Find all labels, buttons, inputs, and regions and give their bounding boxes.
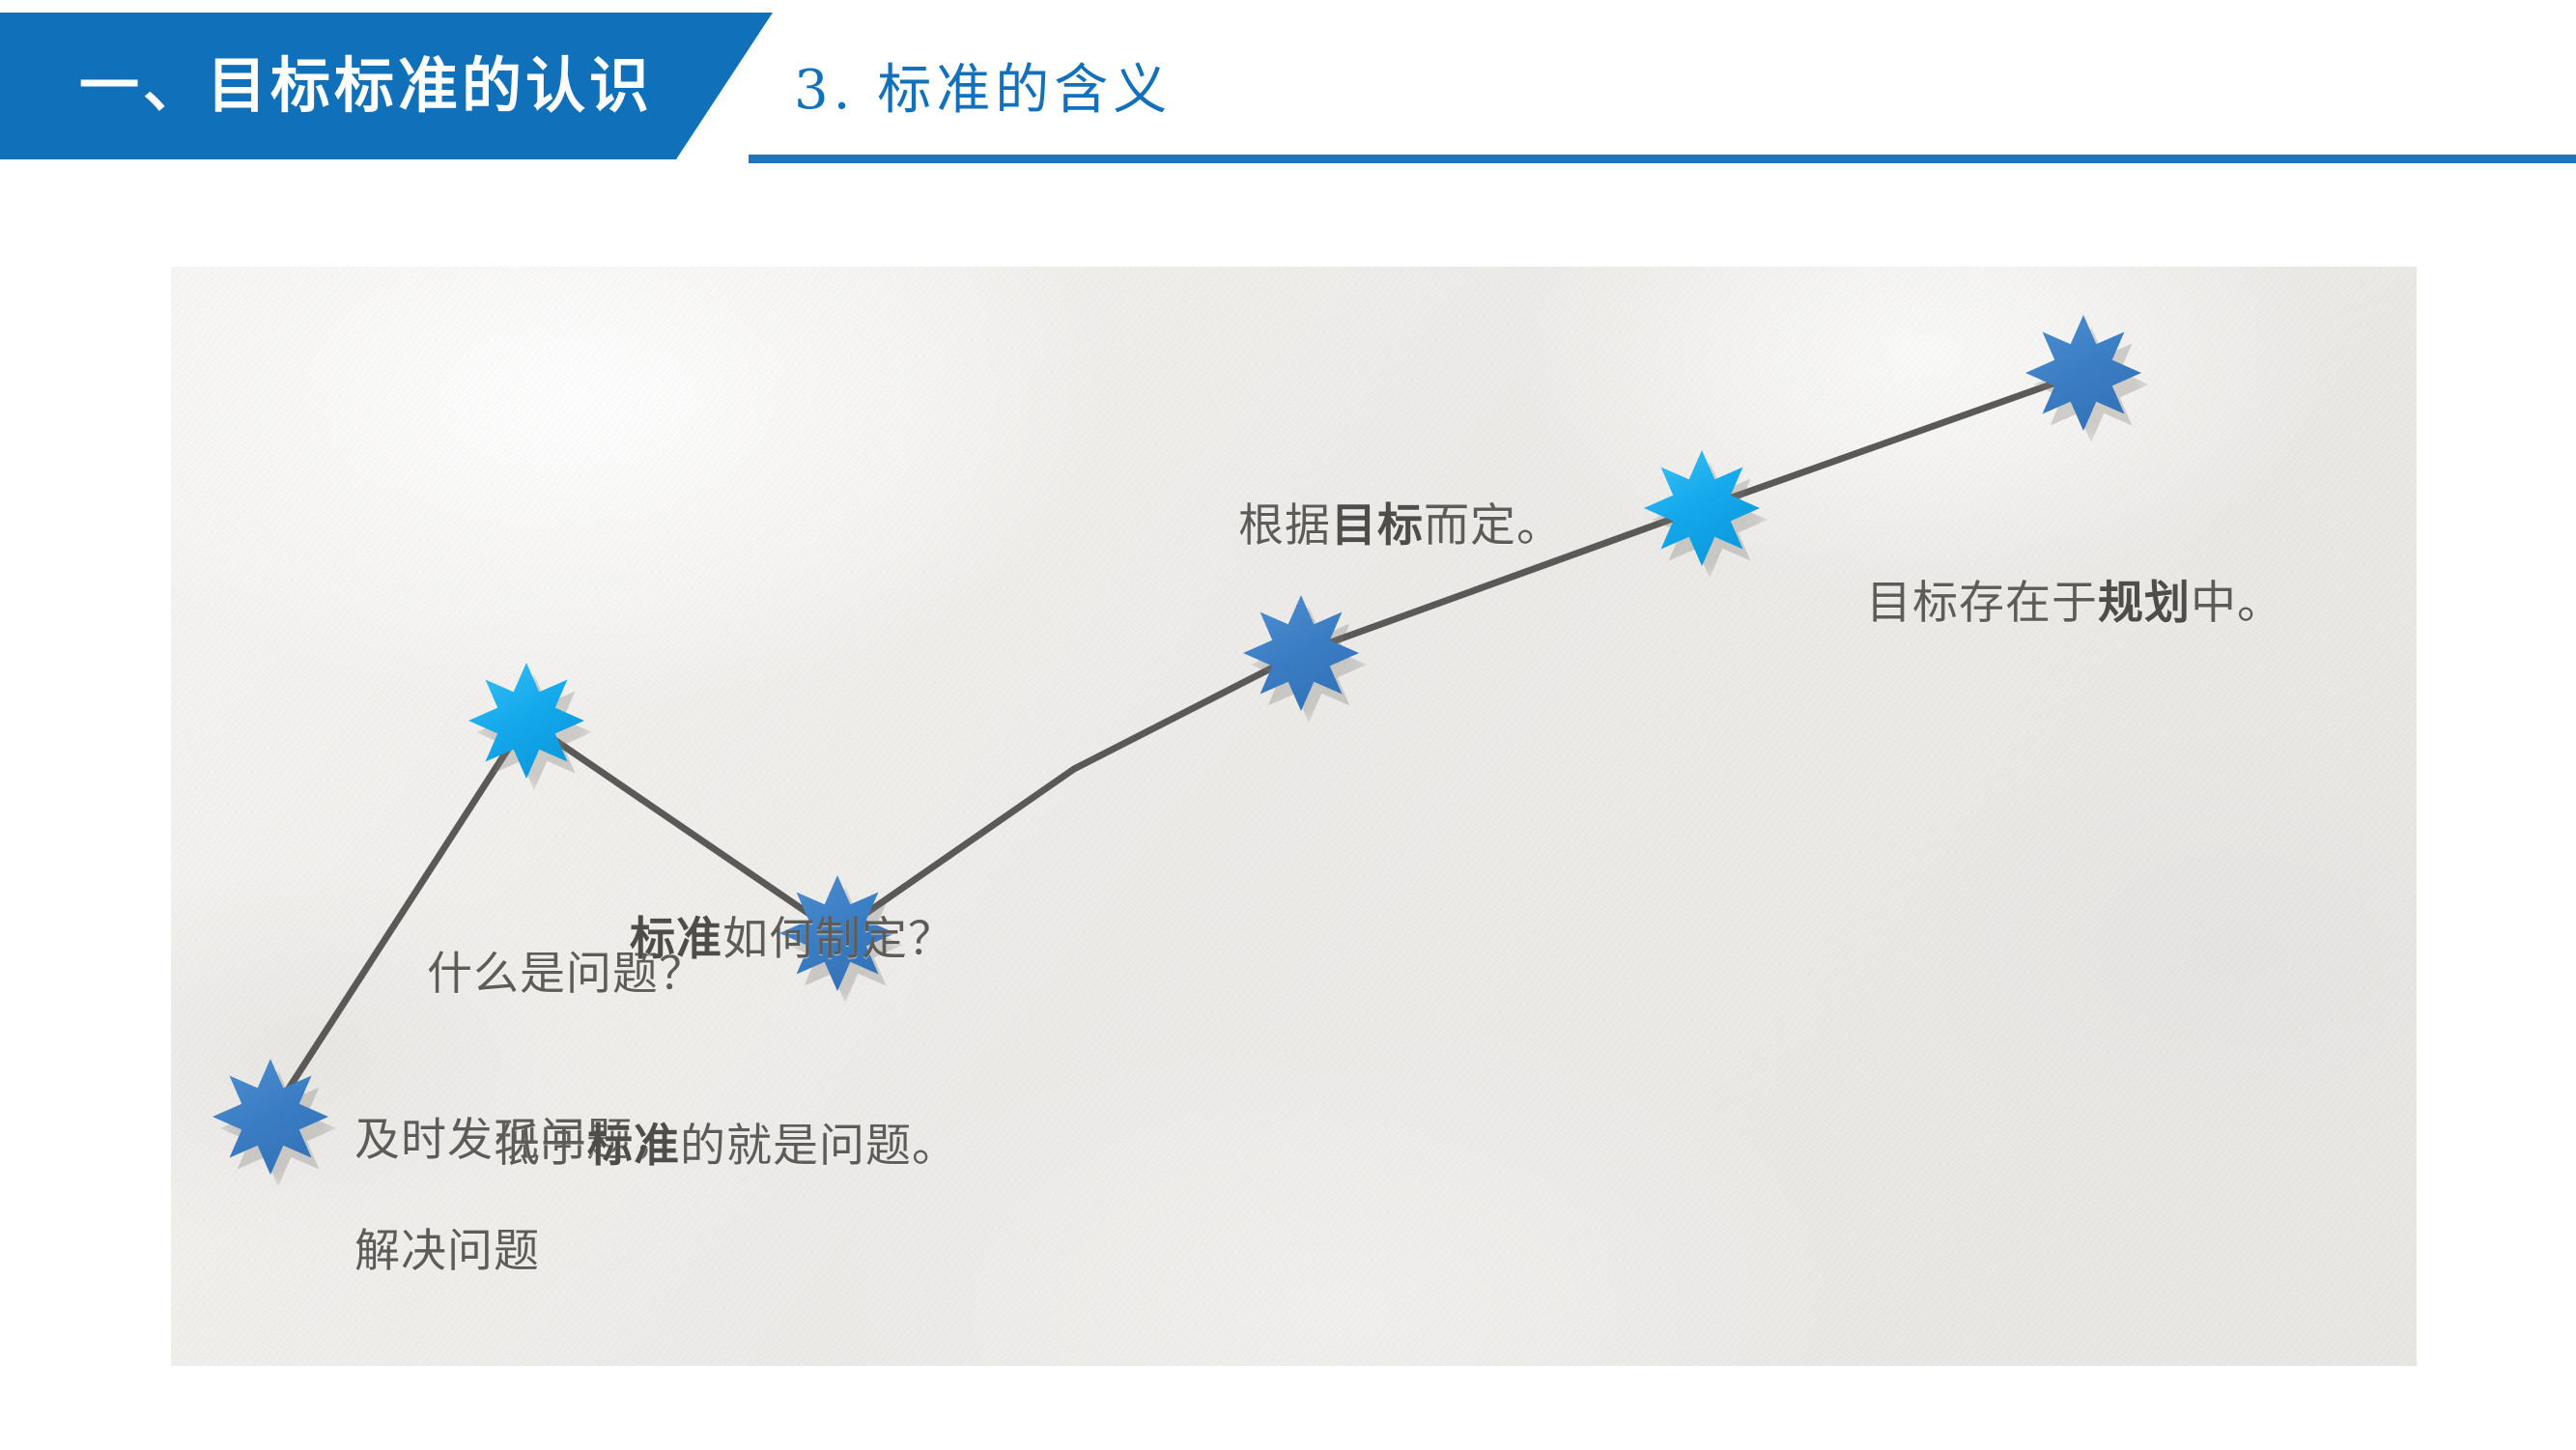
star-node-4 — [1243, 595, 1359, 711]
star-icon-2 — [468, 663, 584, 779]
caption-node-5-pre: 根据 — [1238, 499, 1331, 551]
star-node-1 — [212, 1059, 328, 1175]
caption-node-3-post: 的就是问题。 — [680, 1120, 958, 1171]
caption-node-4-bold: 标准 — [630, 913, 722, 964]
caption-node-6-bold: 规划 — [2098, 577, 2191, 628]
header-divider — [749, 155, 2576, 163]
caption-node-1-line-2: 解决问题 — [354, 1223, 679, 1278]
slide-header: 一、目标标准的认识 3. 标准的含义 — [0, 0, 2576, 169]
caption-node-6-post: 中。 — [2191, 577, 2283, 628]
star-node-5 — [1644, 450, 1760, 566]
caption-node-4-post: 如何制定？ — [722, 913, 954, 964]
star-node-6 — [2025, 315, 2141, 431]
caption-node-3-pre: 低于 — [495, 1120, 587, 1171]
caption-node-6-pre: 目标存在于 — [1866, 577, 2098, 628]
caption-node-5-post: 而定。 — [1424, 499, 1563, 551]
star-icon-5 — [1644, 450, 1760, 566]
caption-node-5-bold: 目标 — [1331, 499, 1424, 551]
star-icon-1 — [212, 1059, 328, 1175]
caption-node-3-bold: 标准 — [587, 1120, 680, 1171]
star-icon-6 — [2025, 315, 2141, 431]
content-image-panel: 及时发现问题， 解决问题 什么是问题？ 低于标准的就是问题。 标准如何制定？ 根… — [171, 267, 2417, 1366]
caption-node-3: 低于标准的就是问题。 — [495, 1063, 958, 1174]
star-icon-4 — [1243, 595, 1359, 711]
star-node-2 — [468, 663, 584, 779]
caption-node-5: 根据目标而定。 — [1238, 442, 1563, 554]
page-title: 一、目标标准的认识 — [79, 41, 697, 133]
caption-node-4: 标准如何制定？ — [630, 856, 954, 967]
caption-node-6: 目标存在于规划中。 — [1866, 520, 2283, 631]
header-subtitle: 3. 标准的含义 — [794, 46, 1172, 125]
